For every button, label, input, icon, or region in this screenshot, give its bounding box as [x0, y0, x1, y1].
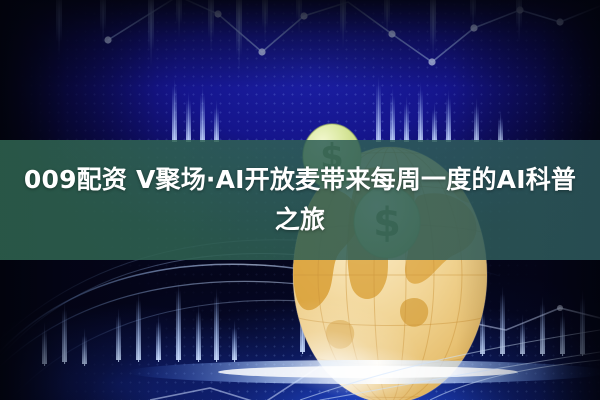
caption-line-2: 之旅 [275, 200, 325, 240]
banner-caption: 009配资 V聚场·AI开放麦带来每周一度的AI科普 之旅 [0, 140, 600, 260]
caption-line-1: 009配资 V聚场·AI开放麦带来每周一度的AI科普 [24, 160, 576, 200]
promo-image: $ $ 009配资 V聚场·AI开放麦带来每周一度的AI科普 之旅 [0, 0, 600, 400]
